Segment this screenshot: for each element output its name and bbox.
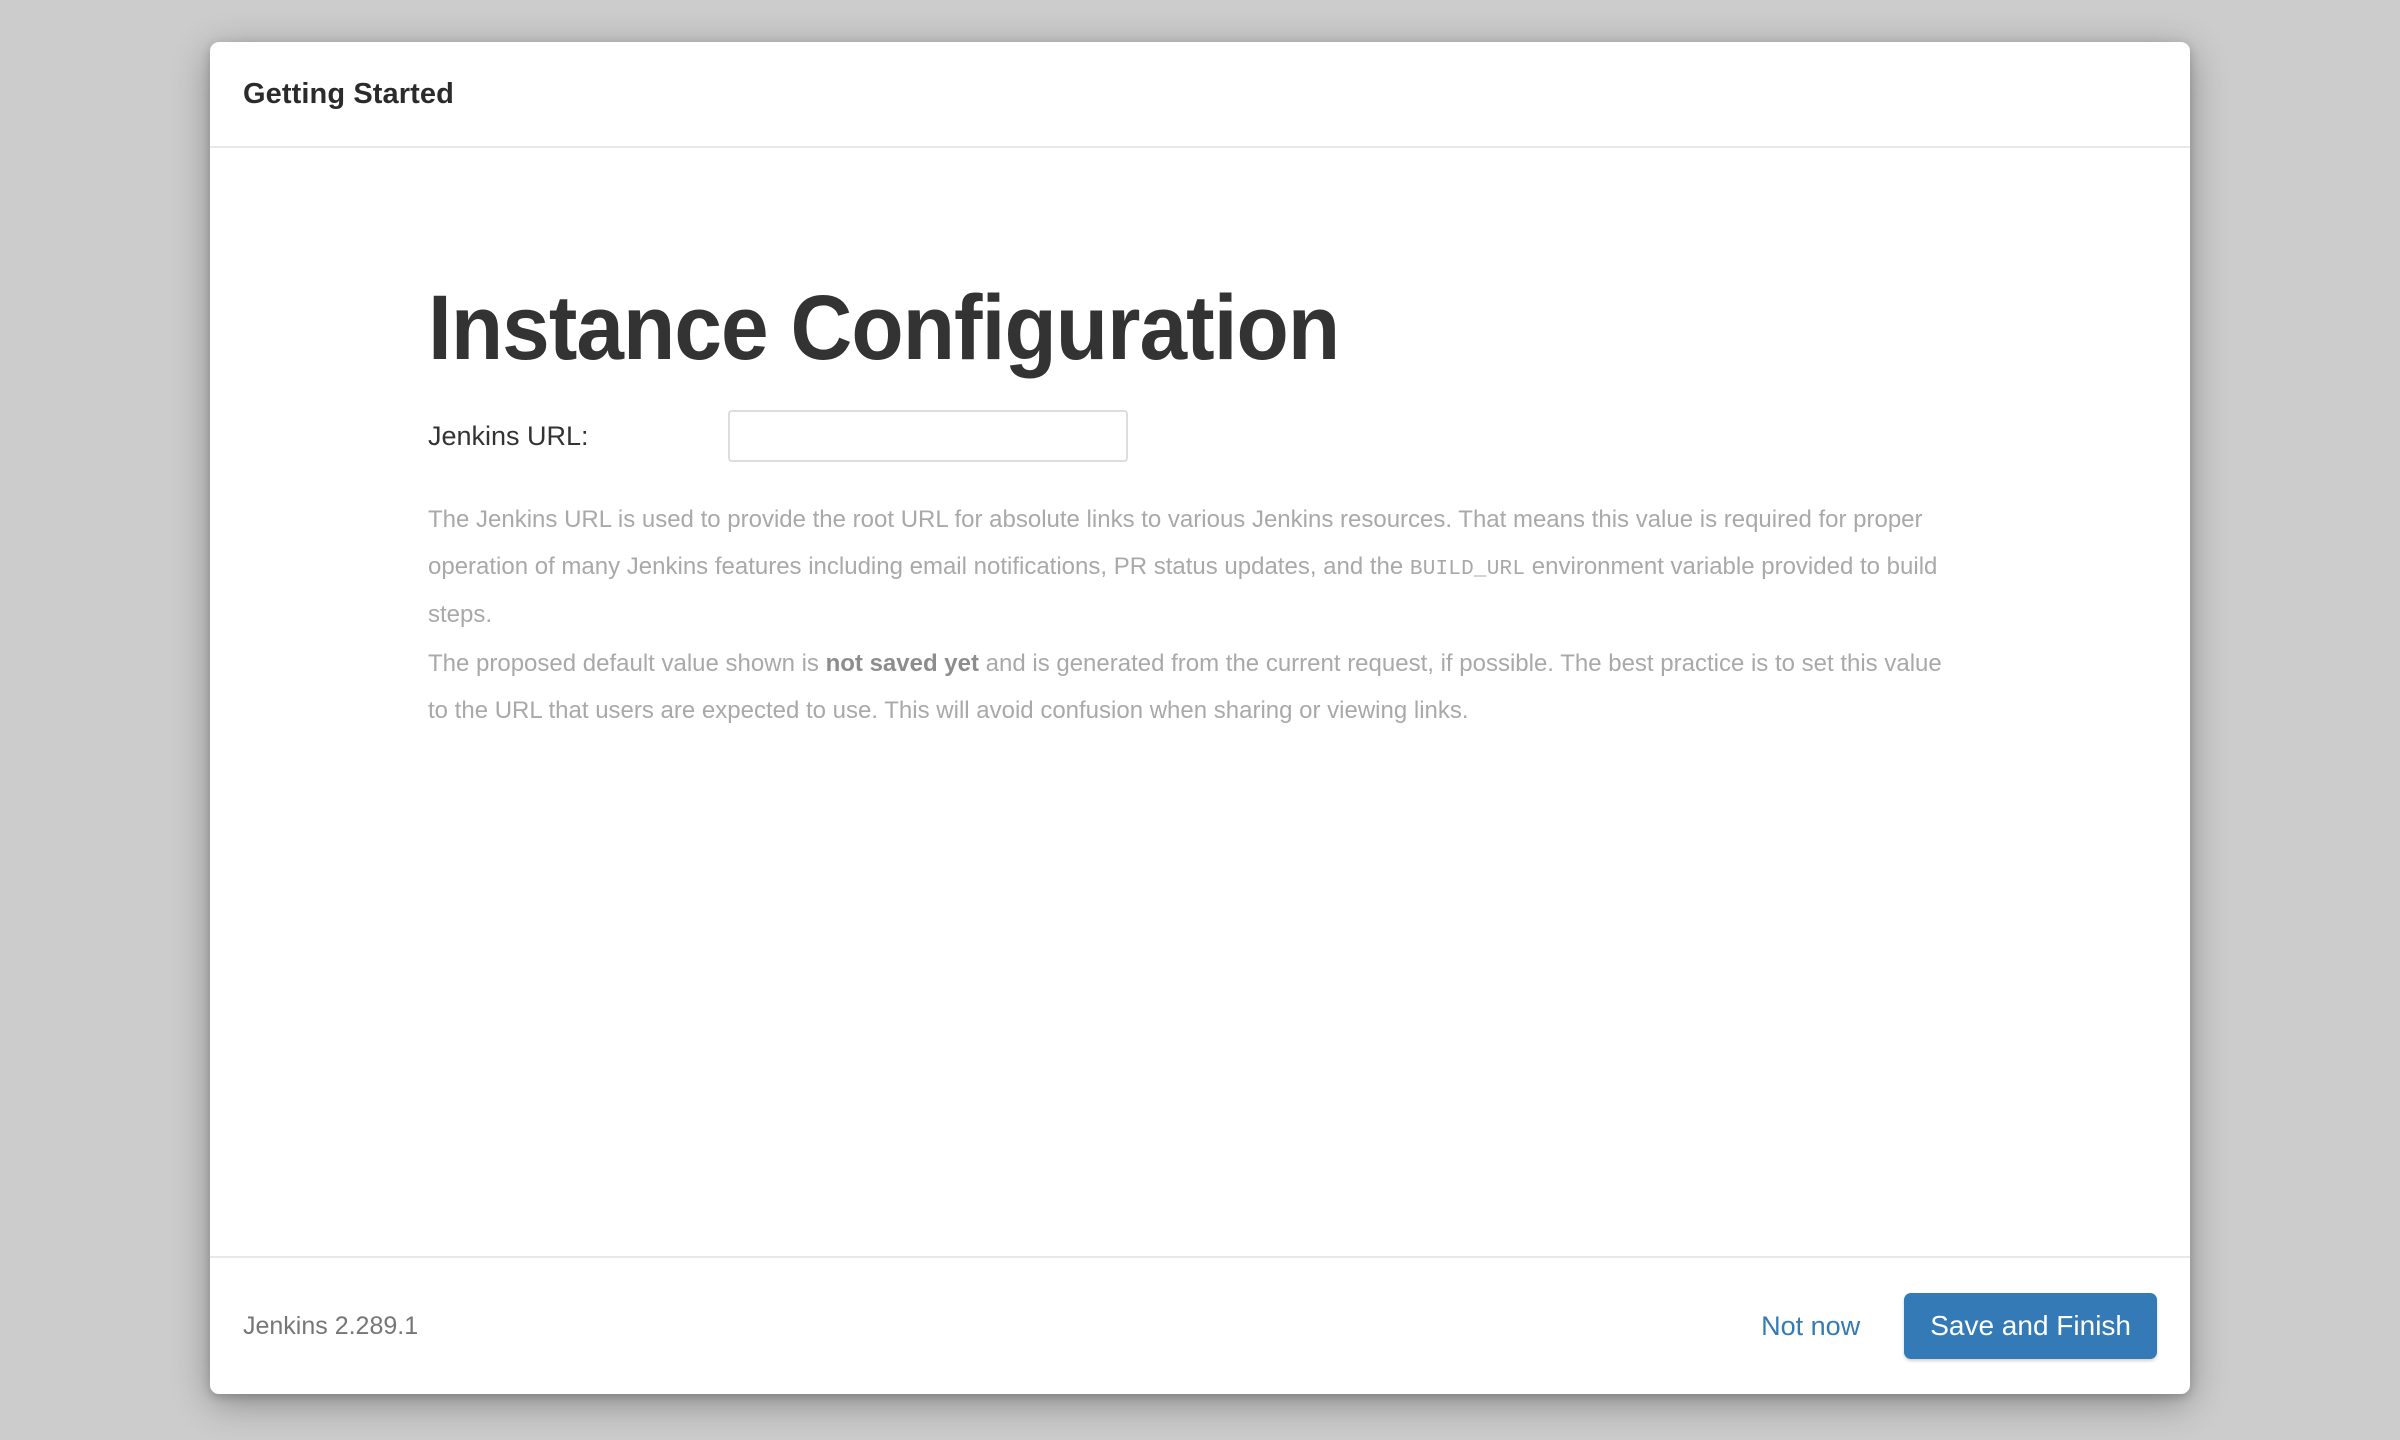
save-and-finish-button[interactable]: Save and Finish	[1904, 1293, 2157, 1359]
description-paragraph-2-text-before: The proposed default value shown is	[428, 650, 826, 677]
description-paragraph-1: The Jenkins URL is used to provide the r…	[428, 496, 1968, 638]
page-title: Instance Configuration	[428, 282, 1860, 374]
dialog-header: Getting Started	[210, 42, 2190, 148]
jenkins-url-input[interactable]	[728, 410, 1128, 462]
not-now-button[interactable]: Not now	[1761, 1311, 1860, 1342]
jenkins-url-label: Jenkins URL:	[428, 421, 728, 452]
footer-actions: Not now Save and Finish	[1761, 1293, 2157, 1359]
jenkins-version-label: Jenkins 2.289.1	[243, 1312, 418, 1341]
modal-backdrop: Getting Started Instance Configuration J…	[0, 0, 2400, 1440]
dialog-title: Getting Started	[243, 78, 454, 111]
not-saved-yet-emphasis: not saved yet	[826, 650, 979, 677]
dialog-body: Instance Configuration Jenkins URL: The …	[210, 148, 2190, 1256]
jenkins-url-field-row: Jenkins URL:	[428, 410, 1968, 462]
description-paragraph-2: The proposed default value shown is not …	[428, 640, 1968, 735]
build-url-code: BUILD_URL	[1410, 558, 1525, 581]
setup-wizard-dialog: Getting Started Instance Configuration J…	[210, 42, 2190, 1394]
instance-configuration-panel: Instance Configuration Jenkins URL: The …	[428, 282, 1968, 734]
dialog-footer: Jenkins 2.289.1 Not now Save and Finish	[210, 1256, 2190, 1394]
